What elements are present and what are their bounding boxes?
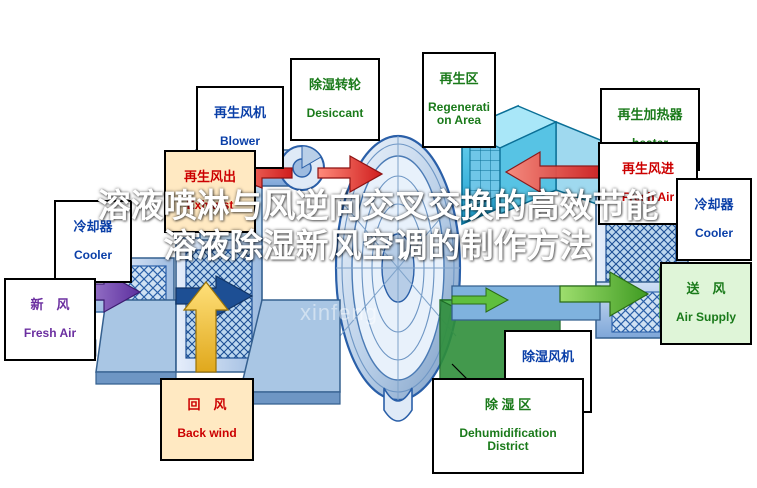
label-fresh-air-cn: 新 风 bbox=[8, 298, 92, 313]
label-regeneration-exhaust-en: Exhaust bbox=[168, 199, 252, 212]
label-regeneration-area-cn: 再生区 bbox=[426, 72, 492, 87]
label-regeneration-area: 再生区 Regenerati on Area bbox=[422, 52, 496, 148]
label-air-supply: 送 风 Air Supply bbox=[660, 262, 752, 345]
label-regeneration-blower-cn: 再生风机 bbox=[200, 106, 280, 121]
label-cooler-right-cn: 冷却器 bbox=[680, 198, 748, 213]
label-back-wind: 回 风 Back wind bbox=[160, 378, 254, 461]
label-air-supply-en: Air Supply bbox=[664, 311, 748, 324]
label-regeneration-heater-cn: 再生加热器 bbox=[604, 108, 696, 123]
diagram-canvas: xinfeng 除湿转轮 Desiccant 再生区 Regenerati on… bbox=[0, 0, 757, 488]
label-cooler-left: 冷却器 Cooler bbox=[54, 200, 132, 283]
label-fresh-air-en: Fresh Air bbox=[8, 327, 92, 340]
label-dehumidification-district: 除 湿 区 Dehumidification District bbox=[432, 378, 584, 474]
label-dehumidification-blower-cn: 除湿风机 bbox=[508, 350, 588, 365]
label-cooler-left-cn: 冷却器 bbox=[58, 220, 128, 235]
label-regeneration-blower-en: Blower bbox=[200, 135, 280, 148]
label-back-wind-en: Back wind bbox=[164, 427, 250, 440]
label-regeneration-area-en: Regenerati on Area bbox=[426, 101, 492, 128]
label-regeneration-exhaust: 再生风出 Exhaust bbox=[164, 150, 256, 233]
label-cooler-right-en: Cooler bbox=[680, 227, 748, 240]
label-desiccant-wheel-cn: 除湿转轮 bbox=[294, 78, 376, 93]
label-cooler-left-en: Cooler bbox=[58, 249, 128, 262]
label-dehumidification-district-cn: 除 湿 区 bbox=[436, 398, 580, 413]
label-desiccant-wheel-en: Desiccant bbox=[294, 107, 376, 120]
label-fresh-air: 新 风 Fresh Air bbox=[4, 278, 96, 361]
label-dehumidification-district-en: Dehumidification District bbox=[436, 427, 580, 454]
label-regeneration-inlet-cn: 再生风进 bbox=[602, 162, 694, 177]
label-air-supply-cn: 送 风 bbox=[664, 282, 748, 297]
label-regeneration-exhaust-cn: 再生风出 bbox=[168, 170, 252, 185]
watermark-text: xinfeng bbox=[300, 300, 378, 326]
label-back-wind-cn: 回 风 bbox=[164, 398, 250, 413]
label-desiccant-wheel: 除湿转轮 Desiccant bbox=[290, 58, 380, 141]
label-cooler-right: 冷却器 Cooler bbox=[676, 178, 752, 261]
